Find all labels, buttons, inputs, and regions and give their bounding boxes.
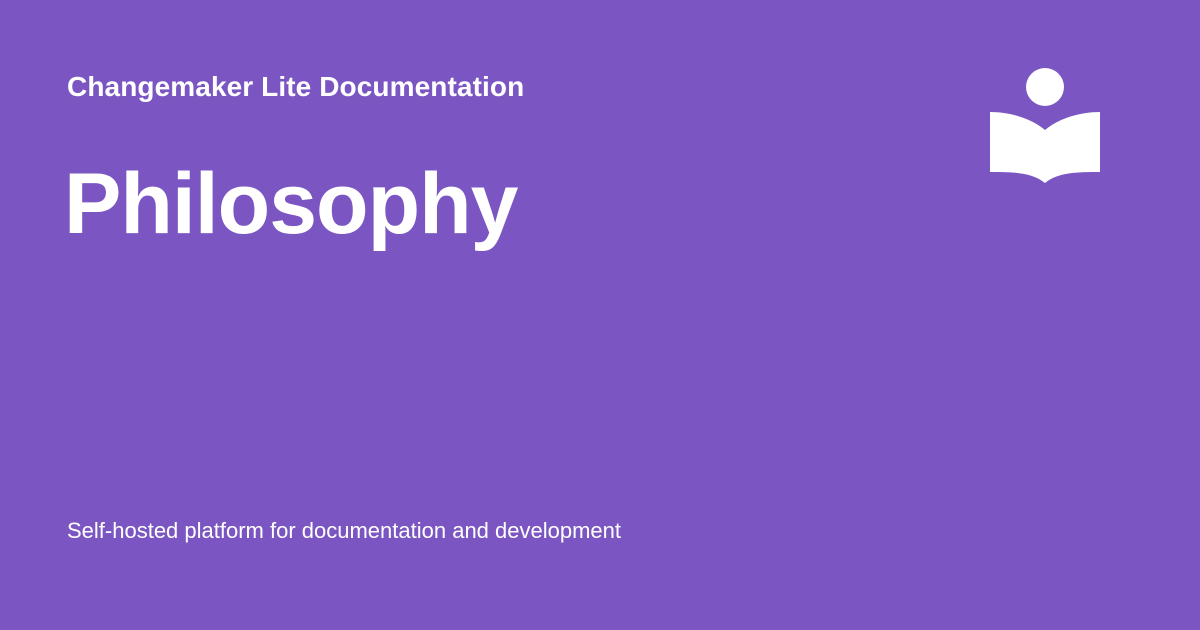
page-title: Philosophy [64, 158, 517, 251]
site-title: Changemaker Lite Documentation [67, 70, 524, 104]
tagline: Self-hosted platform for documentation a… [67, 516, 621, 546]
open-book-reader-icon [985, 62, 1105, 192]
logo [985, 62, 1105, 192]
open-graph-card: Changemaker Lite Documentation Philosoph… [0, 0, 1200, 630]
